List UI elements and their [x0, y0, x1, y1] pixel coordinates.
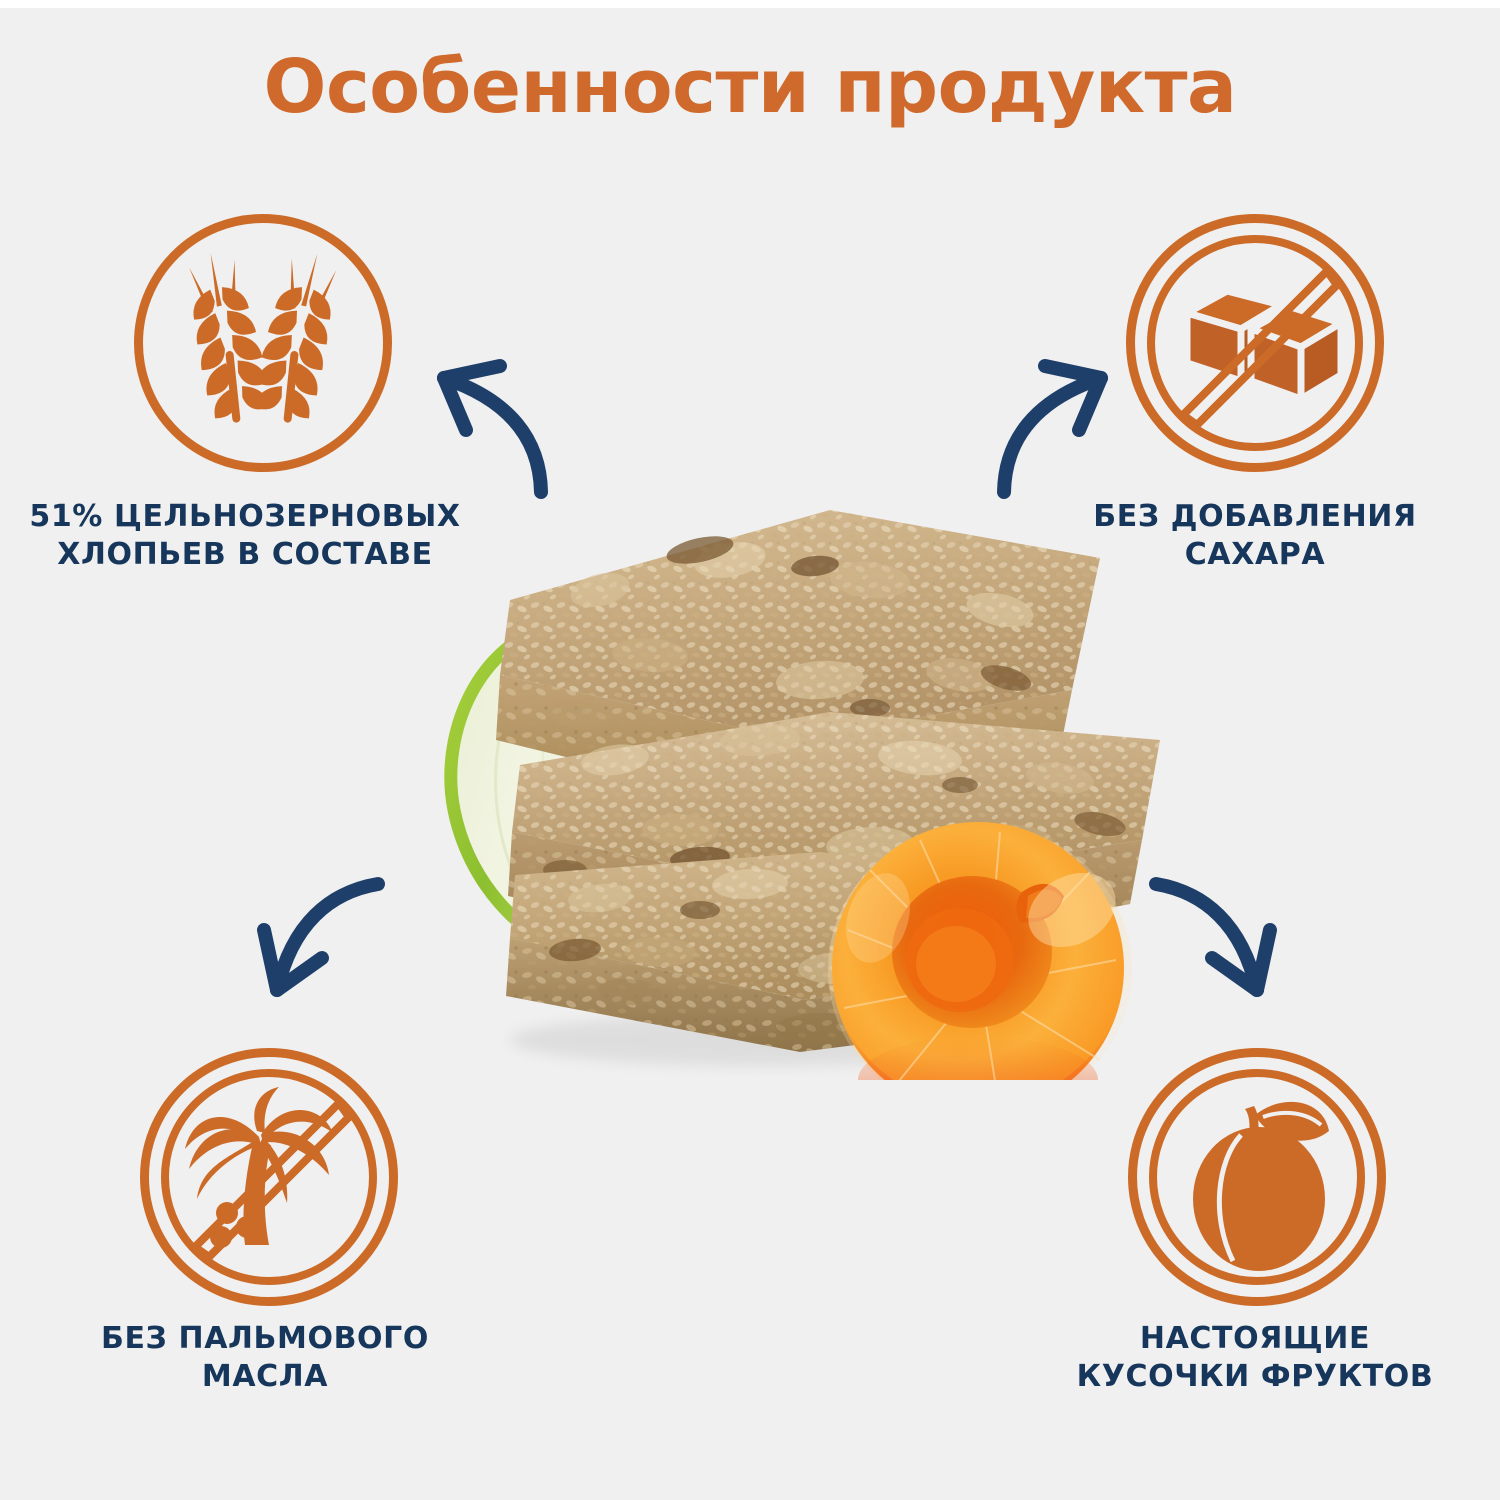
- caption-line-2: МАСЛА: [20, 1358, 510, 1396]
- whole-grain-icon-circle: [134, 214, 392, 472]
- arrow-to-top-right: [1004, 366, 1101, 492]
- caption-line-1: БЕЗ ПАЛЬМОВОГО: [20, 1320, 510, 1358]
- no-palm-tree-icon: [149, 1057, 389, 1297]
- whole-grain-caption: 51% ЦЕЛЬНОЗЕРНОВЫХ ХЛОПЬЕВ В СОСТАВЕ: [0, 498, 490, 575]
- arrow-to-bottom-left: [264, 884, 378, 990]
- infographic-canvas: Особенности продукта: [0, 0, 1500, 1500]
- wheat-ears-icon: [143, 223, 383, 463]
- apricot-fruit-icon: [1137, 1057, 1377, 1297]
- caption-line-2: САХАРА: [1010, 536, 1500, 574]
- real-fruit-caption: НАСТОЯЩИЕ КУСОЧКИ ФРУКТОВ: [1010, 1320, 1500, 1397]
- arrow-to-top-left: [444, 366, 541, 492]
- caption-line-2: КУСОЧКИ ФРУКТОВ: [1010, 1358, 1500, 1396]
- no-sugar-icon-circle: [1126, 214, 1384, 472]
- caption-line-1: 51% ЦЕЛЬНОЗЕРНОВЫХ: [0, 498, 490, 536]
- no-added-sugar-caption: БЕЗ ДОБАВЛЕНИЯ САХАРА: [1010, 498, 1500, 575]
- caption-line-2: ХЛОПЬЕВ В СОСТАВЕ: [0, 536, 490, 574]
- no-palm-oil-caption: БЕЗ ПАЛЬМОВОГО МАСЛА: [20, 1320, 510, 1397]
- no-sugar-cubes-icon: [1135, 223, 1375, 463]
- arrow-to-bottom-right: [1156, 884, 1270, 990]
- caption-line-1: БЕЗ ДОБАВЛЕНИЯ: [1010, 498, 1500, 536]
- no-palm-oil-icon-circle: [140, 1048, 398, 1306]
- real-fruit-icon-circle: [1128, 1048, 1386, 1306]
- caption-line-1: НАСТОЯЩИЕ: [1010, 1320, 1500, 1358]
